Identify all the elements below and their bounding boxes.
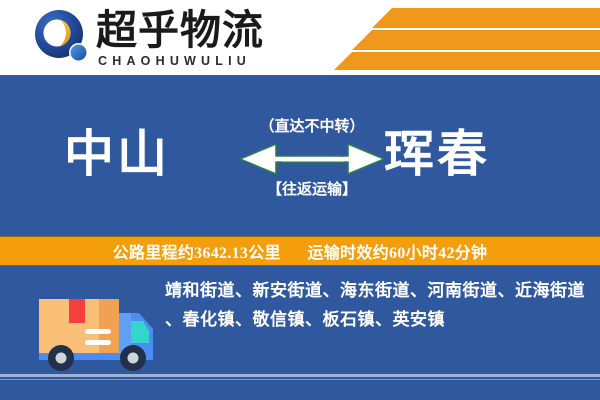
duration-text: 运输时效约60小时42分钟 [307,245,487,262]
route-info-text: 公路里程约3642.13公里 运输时效约60小时42分钟 [113,239,488,263]
ground-line-secondary [0,379,600,380]
route-direct-note: （直达不中转） [236,118,388,136]
origin-city: 中山 [64,126,170,182]
ground-line [0,374,600,377]
route-middle-block: （直达不中转） 【往返运输】 [236,118,388,214]
destination-city: 珲春 [384,126,490,182]
route-roundtrip-tag: 【往返运输】 [236,181,388,199]
brand-name-block: 超乎物流 CHAOHUWULIU [96,8,326,70]
speed-stripes-icon [330,6,600,70]
bidirectional-arrow-icon [236,140,388,178]
delivery-truck-icon [27,277,167,377]
coverage-area-list: 靖和街道、新安街道、海东街道、河南街道、近海街道 、春化镇、敬信镇、板石镇、英安… [165,276,585,334]
route-info-bar: 公路里程约3642.13公里 运输时效约60小时42分钟 [0,236,600,266]
coverage-line-1: 靖和街道、新安街道、海东街道、河南街道、近海街道 [165,276,585,305]
distance-text: 公路里程约3642.13公里 [113,245,281,262]
logistics-route-banner: 超乎物流 CHAOHUWULIU 中山 珲春 （直达不中转） [0,0,600,400]
header-bar: 超乎物流 CHAOHUWULIU [0,0,600,75]
brand-name-cn: 超乎物流 [96,8,326,52]
crescent-circle-logo-icon [33,9,91,67]
coverage-line-2: 、春化镇、敬信镇、板石镇、英安镇 [165,305,585,334]
brand-name-en: CHAOHUWULIU [98,54,326,68]
